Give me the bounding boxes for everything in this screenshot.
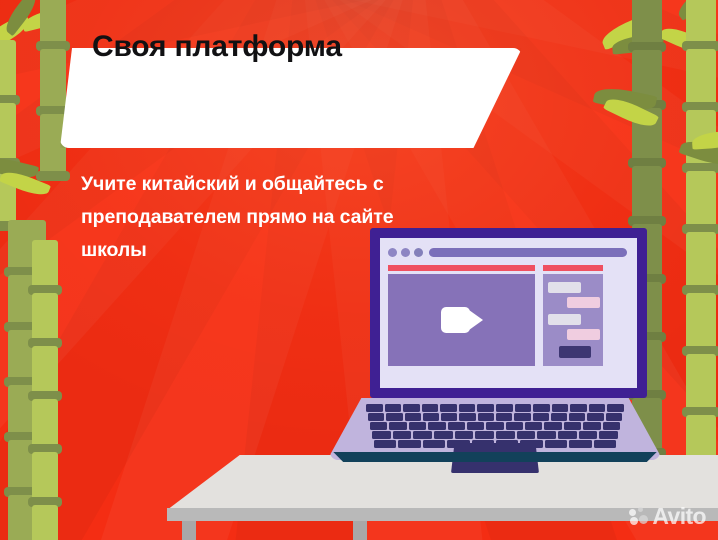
keyboard-key[interactable] bbox=[441, 413, 457, 421]
bamboo-segment bbox=[32, 452, 58, 502]
bamboo-segment bbox=[32, 505, 58, 540]
keyboard-key[interactable] bbox=[515, 404, 532, 412]
keyboard-key[interactable] bbox=[478, 413, 494, 421]
camera-lens bbox=[469, 310, 483, 330]
bamboo-segment bbox=[632, 166, 662, 221]
keyboard-key[interactable] bbox=[372, 431, 391, 439]
keyboard-key[interactable] bbox=[475, 431, 494, 439]
keyboard-key[interactable] bbox=[552, 404, 569, 412]
keyboard-key[interactable] bbox=[533, 404, 550, 412]
promo-banner-card: Своя платформа Учите китайский и общайте… bbox=[0, 0, 718, 540]
keyboard-key[interactable] bbox=[385, 404, 402, 412]
keyboard-key[interactable] bbox=[477, 404, 494, 412]
bamboo-segment bbox=[40, 49, 66, 111]
keyboard-key[interactable] bbox=[409, 422, 426, 430]
keyboard-key[interactable] bbox=[459, 404, 476, 412]
keyboard-key[interactable] bbox=[569, 413, 585, 421]
keyboard-key[interactable] bbox=[423, 440, 445, 448]
keyboard-key[interactable] bbox=[537, 431, 556, 439]
video-call-area[interactable] bbox=[388, 274, 535, 366]
content-header-bar-side bbox=[543, 265, 603, 271]
bamboo-segment bbox=[32, 293, 58, 343]
keyboard-key[interactable] bbox=[525, 422, 542, 430]
bamboo-segment bbox=[686, 0, 716, 46]
bamboo-segment bbox=[686, 293, 716, 351]
keyboard-key[interactable] bbox=[459, 413, 475, 421]
page-title: Своя платформа bbox=[92, 30, 342, 64]
keyboard-key[interactable] bbox=[405, 413, 421, 421]
avito-wordmark: Avito bbox=[652, 507, 706, 526]
keyboard-key[interactable] bbox=[579, 431, 598, 439]
chat-bubble-outgoing bbox=[567, 297, 600, 308]
keyboard-key[interactable] bbox=[606, 413, 622, 421]
keyboard-key[interactable] bbox=[448, 422, 465, 430]
desk-leg-right bbox=[353, 521, 367, 540]
chat-bubble-outgoing bbox=[567, 329, 600, 340]
laptop-keyboard bbox=[330, 398, 660, 442]
keyboard-key[interactable] bbox=[496, 404, 513, 412]
keyboard-key[interactable] bbox=[589, 404, 606, 412]
subtitle-text: Учите китайский и общайтесь с преподават… bbox=[81, 168, 496, 267]
keyboard-key[interactable] bbox=[569, 440, 591, 448]
chat-bubble-incoming bbox=[548, 314, 581, 325]
keyboard-key[interactable] bbox=[583, 422, 600, 430]
keyboard-key[interactable] bbox=[486, 422, 503, 430]
keyboard-key[interactable] bbox=[587, 413, 603, 421]
avito-logo-icon bbox=[629, 507, 648, 526]
keyboard-key[interactable] bbox=[551, 413, 567, 421]
bamboo-segment bbox=[32, 346, 58, 396]
keyboard-key[interactable] bbox=[398, 440, 420, 448]
keyboard-key[interactable] bbox=[594, 440, 616, 448]
bamboo-segment bbox=[632, 0, 662, 47]
bamboo-segment bbox=[686, 232, 716, 290]
keyboard-key[interactable] bbox=[366, 404, 383, 412]
keyboard-key[interactable] bbox=[564, 422, 581, 430]
keyboard-key[interactable] bbox=[368, 413, 384, 421]
keyboard-key[interactable] bbox=[422, 404, 439, 412]
keyboard-key[interactable] bbox=[455, 431, 474, 439]
subtitle-line-1: Учите китайский и общайтесь с bbox=[81, 173, 384, 195]
subtitle-line-3-emphasis: школы bbox=[81, 239, 147, 261]
keyboard-key[interactable] bbox=[434, 431, 453, 439]
keyboard-key[interactable] bbox=[389, 422, 406, 430]
chat-sidebar bbox=[543, 274, 603, 366]
camera-body bbox=[441, 307, 470, 333]
keyboard-key[interactable] bbox=[514, 413, 530, 421]
keyboard-key[interactable] bbox=[533, 413, 549, 421]
bamboo-segment bbox=[686, 354, 716, 412]
bamboo-segment bbox=[0, 103, 16, 163]
keyboard-key[interactable] bbox=[570, 404, 587, 412]
keyboard-key[interactable] bbox=[496, 431, 515, 439]
keyboard-key[interactable] bbox=[517, 431, 536, 439]
keyboard-key[interactable] bbox=[374, 440, 396, 448]
laptop-bottom-edge bbox=[330, 452, 660, 462]
subtitle-line-2-regular: преподавателем bbox=[81, 206, 246, 228]
avito-watermark: Avito bbox=[629, 507, 706, 526]
bamboo-segment bbox=[40, 0, 66, 46]
keyboard-key[interactable] bbox=[428, 422, 445, 430]
keyboard-key[interactable] bbox=[467, 422, 484, 430]
laptop-illustration bbox=[330, 228, 660, 508]
keyboard-key[interactable] bbox=[506, 422, 523, 430]
bamboo-segment bbox=[686, 49, 716, 107]
keyboard-key[interactable] bbox=[386, 413, 402, 421]
keyboard-key[interactable] bbox=[544, 422, 561, 430]
chat-bubble-incoming bbox=[548, 282, 581, 293]
bamboo-segment bbox=[0, 40, 16, 100]
keyboard-key[interactable] bbox=[413, 431, 432, 439]
subtitle-line-2-emphasis: прямо на сайте bbox=[246, 206, 393, 228]
keyboard-key[interactable] bbox=[558, 431, 577, 439]
bamboo-segment bbox=[32, 240, 58, 290]
keyboard-key[interactable] bbox=[403, 404, 420, 412]
bamboo-segment bbox=[686, 171, 716, 229]
keyboard-key[interactable] bbox=[599, 431, 618, 439]
keyboard-key[interactable] bbox=[496, 413, 512, 421]
video-camera-icon bbox=[441, 307, 483, 333]
keyboard-key[interactable] bbox=[545, 440, 567, 448]
keyboard-key[interactable] bbox=[393, 431, 412, 439]
keyboard-key[interactable] bbox=[370, 422, 387, 430]
chat-send-button[interactable] bbox=[559, 346, 591, 358]
keyboard-key[interactable] bbox=[440, 404, 457, 412]
keyboard-key[interactable] bbox=[607, 404, 624, 412]
bamboo-node bbox=[36, 171, 70, 181]
keyboard-key[interactable] bbox=[423, 413, 439, 421]
desk-leg-left bbox=[182, 521, 196, 540]
bamboo-segment bbox=[32, 399, 58, 449]
keyboard-key[interactable] bbox=[603, 422, 620, 430]
